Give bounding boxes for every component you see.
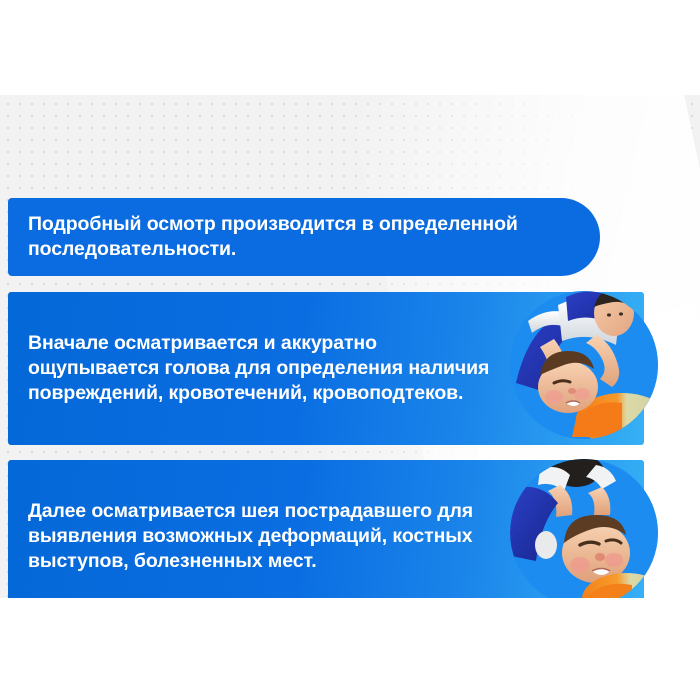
banner-1-text: Подробный осмотр производится в определе… xyxy=(28,212,576,262)
banner-2-text: Вначале осматривается и аккуратно ощупыв… xyxy=(28,331,494,406)
illustration-neck-examination xyxy=(510,459,658,598)
illustration-head-examination xyxy=(510,291,658,439)
statement-banner-1: Подробный осмотр производится в определе… xyxy=(8,198,600,276)
head-examination-image xyxy=(510,291,658,439)
slide-canvas: Подробный осмотр производится в определе… xyxy=(0,95,700,598)
neck-examination-image xyxy=(510,459,658,598)
banner-3-text: Далее осматривается шея пострадавшего дл… xyxy=(28,499,494,574)
